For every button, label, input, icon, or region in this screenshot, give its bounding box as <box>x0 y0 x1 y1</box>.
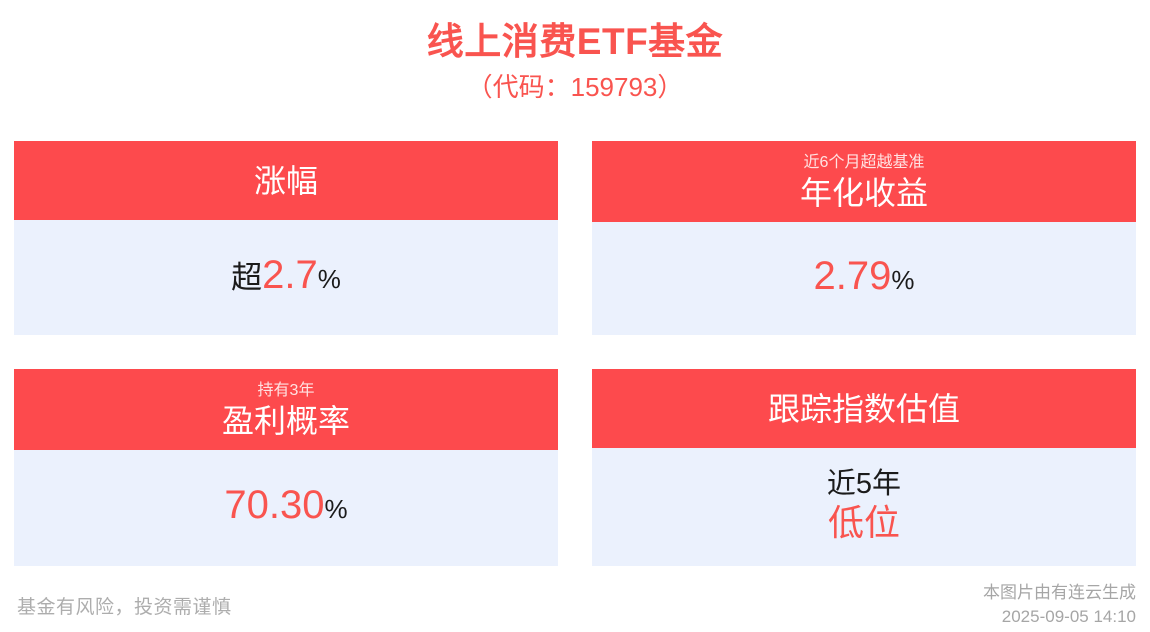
metric-value-level: 低位 <box>828 502 900 544</box>
card-header-main-label: 跟踪指数估值 <box>768 389 960 429</box>
metric-card-index-valuation[interactable]: 跟踪指数估值 近5年 低位 <box>592 369 1136 566</box>
metric-value-annualized-return: 2.79% <box>814 253 915 300</box>
card-header-main-label: 年化收益 <box>800 173 928 213</box>
card-header-annualized-return: 近6个月超越基准 年化收益 <box>592 141 1136 222</box>
metric-card-change[interactable]: 涨幅 超2.7% <box>14 141 558 335</box>
metric-value-prefix: 超 <box>231 260 262 295</box>
metric-value-change: 超2.7% <box>231 252 341 299</box>
generated-by-label: 本图片由有连云生成 <box>983 581 1136 605</box>
footer-attribution: 本图片由有连云生成 2025-09-05 14:10 <box>983 581 1136 629</box>
metric-value-suffix: % <box>318 264 341 294</box>
page-title: 线上消费ETF基金 <box>0 18 1150 66</box>
metric-value-suffix: % <box>324 494 347 524</box>
card-header-index-valuation: 跟踪指数估值 <box>592 369 1136 448</box>
page-title-block: 线上消费ETF基金 （代码：159793） <box>0 0 1150 106</box>
card-body-annualized-return: 2.79% <box>592 222 1136 335</box>
risk-disclaimer: 基金有风险，投资需谨慎 <box>17 592 232 619</box>
footer: 基金有风险，投资需谨慎 本图片由有连云生成 2025-09-05 14:10 <box>0 578 1150 632</box>
card-header-sub-label: 持有3年 <box>258 380 315 401</box>
metric-value-number: 2.79 <box>814 254 892 298</box>
metric-value-number: 2.7 <box>262 253 318 297</box>
card-header-sub-label: 近6个月超越基准 <box>804 152 925 173</box>
card-body-profit-probability: 70.30% <box>14 450 558 566</box>
card-header-main-label: 盈利概率 <box>222 401 350 441</box>
card-body-index-valuation: 近5年 低位 <box>592 448 1136 566</box>
card-header-main-label: 涨幅 <box>254 161 318 201</box>
card-header-change: 涨幅 <box>14 141 558 220</box>
metric-card-grid: 涨幅 超2.7% 近6个月超越基准 年化收益 2.79% 持有3年 盈利概率 7… <box>14 141 1136 566</box>
card-header-profit-probability: 持有3年 盈利概率 <box>14 369 558 450</box>
metric-value-profit-probability: 70.30% <box>224 482 347 529</box>
metric-value-period: 近5年 <box>827 466 901 502</box>
metric-value-number: 70.30 <box>224 483 324 527</box>
metric-card-annualized-return[interactable]: 近6个月超越基准 年化收益 2.79% <box>592 141 1136 335</box>
metric-card-profit-probability[interactable]: 持有3年 盈利概率 70.30% <box>14 369 558 566</box>
card-body-change: 超2.7% <box>14 220 558 335</box>
fund-code: （代码：159793） <box>0 68 1150 106</box>
generated-timestamp: 2025-09-05 14:10 <box>983 605 1136 629</box>
metric-value-suffix: % <box>891 265 914 295</box>
